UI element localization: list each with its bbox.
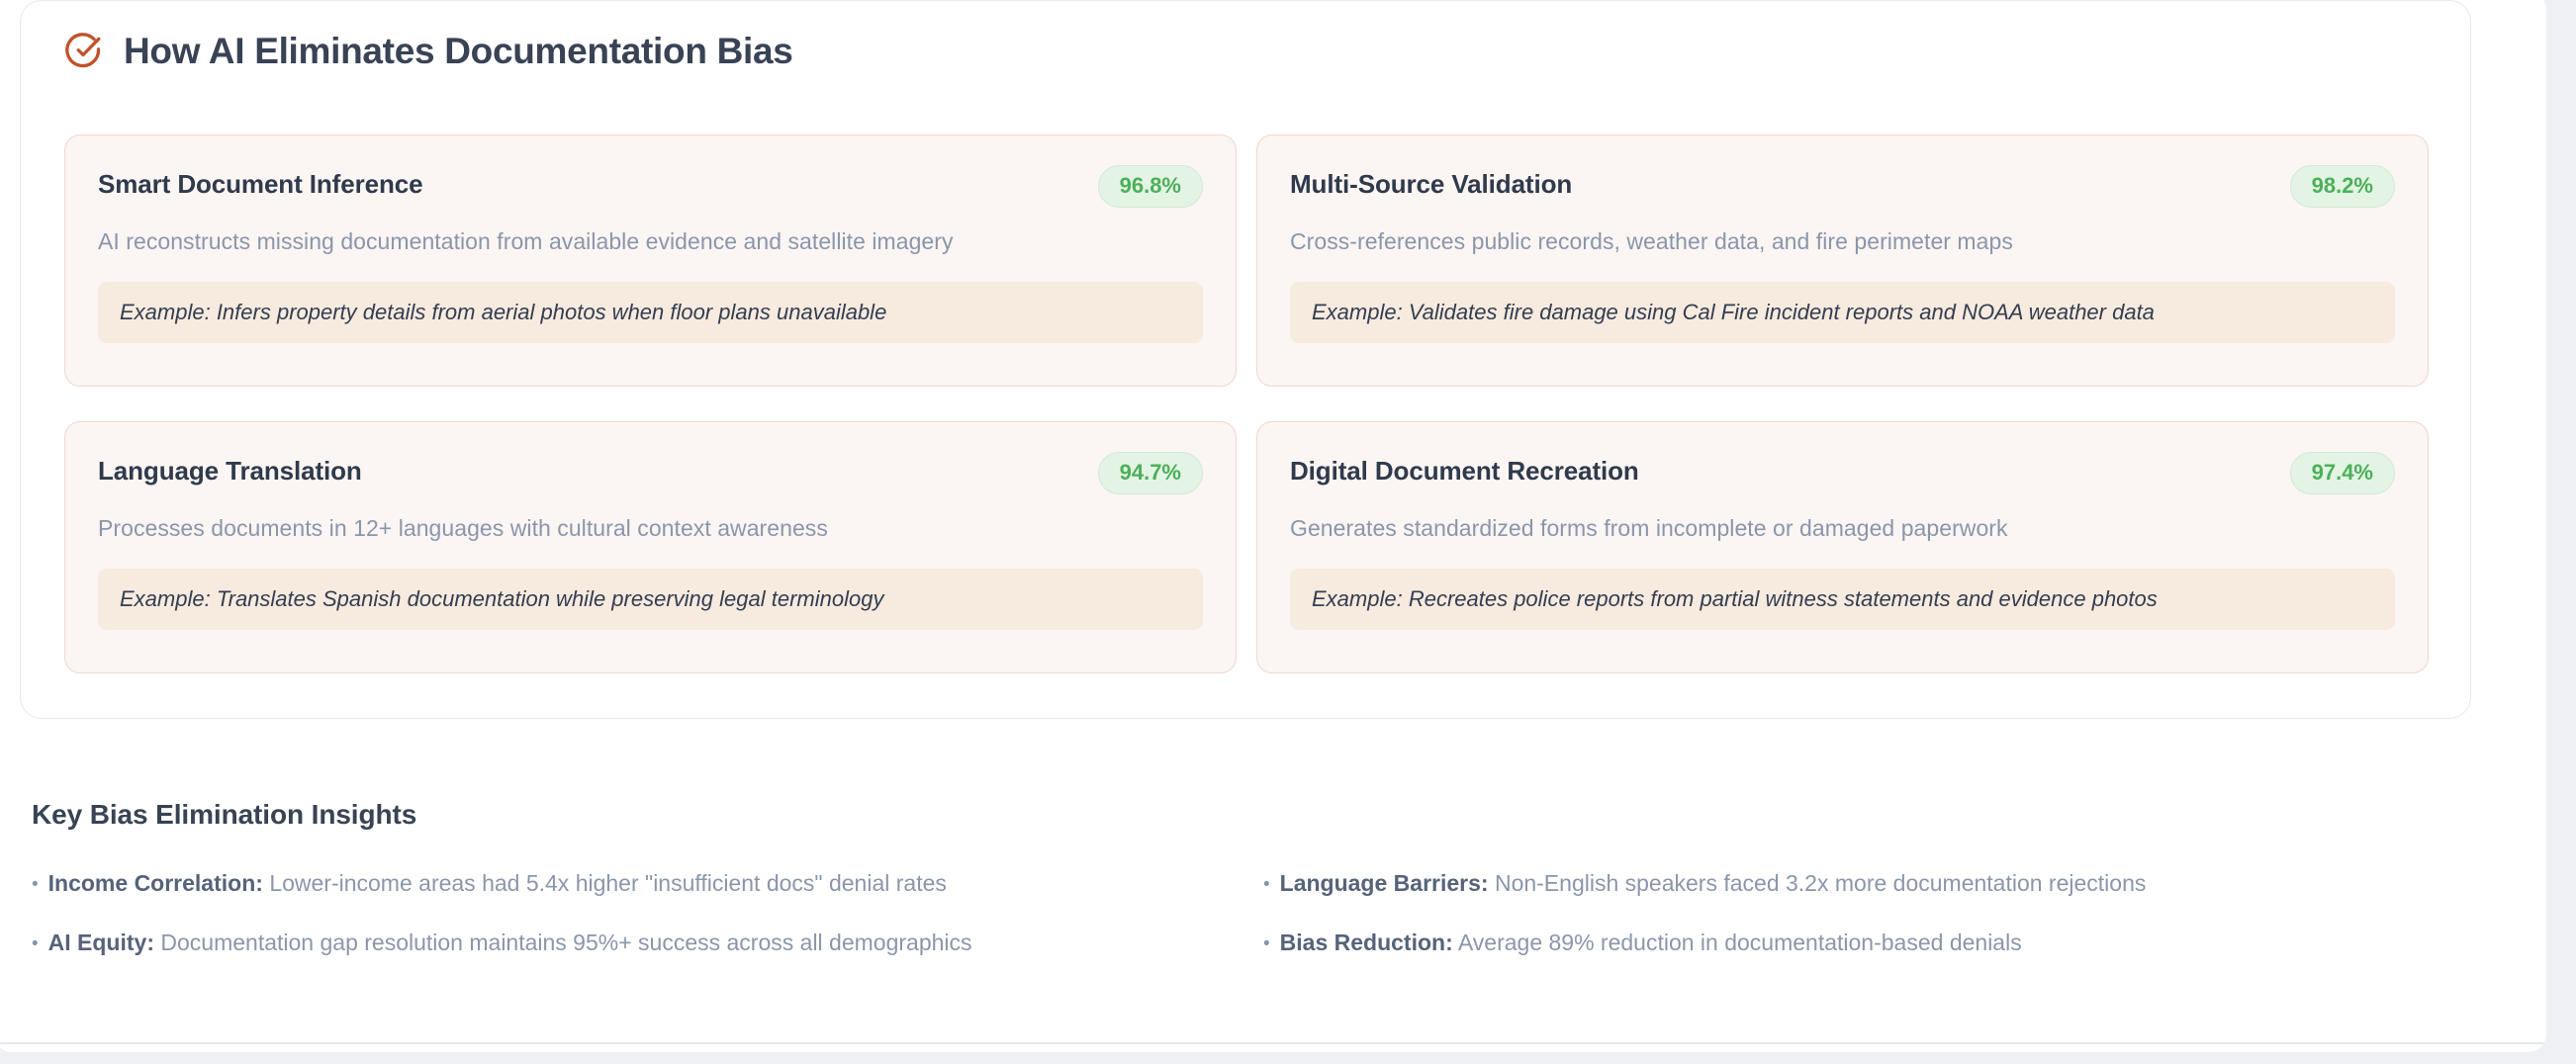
feature-card-multi-source-validation[interactable]: Multi-Source Validation 98.2% Cross-refe… — [1256, 134, 2429, 387]
page-right-gutter — [2546, 0, 2576, 1064]
card-description: AI reconstructs missing documentation fr… — [98, 227, 1203, 256]
card-title: Language Translation — [98, 452, 362, 486]
insight-text: Language Barriers: Non-English speakers … — [1280, 862, 2147, 905]
insights-title: Key Bias Elimination Insights — [32, 801, 2485, 829]
insight-body: Average 89% reduction in documentation-b… — [1458, 930, 2022, 955]
bottom-divider — [0, 1042, 2546, 1044]
bullet-icon: • — [1263, 934, 1270, 953]
insight-label: Income Correlation: — [48, 870, 263, 896]
insights-grid: • Income Correlation: Lower-income areas… — [32, 862, 2485, 963]
card-description: Generates standardized forms from incomp… — [1290, 514, 2395, 543]
card-title: Smart Document Inference — [98, 165, 422, 199]
feature-card-smart-document-inference[interactable]: Smart Document Inference 96.8% AI recons… — [64, 134, 1237, 387]
circle-check-icon — [64, 33, 102, 70]
feature-card-digital-document-recreation[interactable]: Digital Document Recreation 97.4% Genera… — [1256, 421, 2429, 673]
card-example: Example: Infers property details from ae… — [98, 282, 1203, 344]
panel-header: How AI Eliminates Documentation Bias — [64, 31, 793, 70]
insight-item-bias-reduction: • Bias Reduction: Average 89% reduction … — [1263, 922, 2495, 964]
card-example: Example: Validates fire damage using Cal… — [1290, 282, 2395, 344]
insight-label: Language Barriers: — [1280, 870, 1489, 896]
insight-item-income-correlation: • Income Correlation: Lower-income areas… — [32, 862, 1263, 905]
insight-text: Bias Reduction: Average 89% reduction in… — [1280, 922, 2022, 964]
insight-body: Non-English speakers faced 3.2x more doc… — [1495, 870, 2146, 896]
insight-text: Income Correlation: Lower-income areas h… — [48, 862, 947, 905]
insight-body: Documentation gap resolution maintains 9… — [160, 930, 971, 955]
card-header: Language Translation 94.7% — [98, 452, 1203, 493]
feature-card-language-translation[interactable]: Language Translation 94.7% Processes doc… — [64, 421, 1237, 673]
accuracy-badge: 97.4% — [2290, 452, 2395, 494]
feature-card-grid: Smart Document Inference 96.8% AI recons… — [64, 134, 2429, 673]
page-content: How AI Eliminates Documentation Bias Sma… — [0, 0, 2540, 1052]
card-header: Digital Document Recreation 97.4% — [1290, 452, 2395, 493]
insight-label: AI Equity: — [48, 930, 154, 955]
insight-text: AI Equity: Documentation gap resolution … — [48, 922, 972, 964]
card-header: Smart Document Inference 96.8% — [98, 165, 1203, 207]
page-shell: How AI Eliminates Documentation Bias Sma… — [0, 0, 2546, 1052]
card-title: Digital Document Recreation — [1290, 452, 1639, 486]
accuracy-badge: 96.8% — [1098, 165, 1203, 208]
bullet-icon: • — [32, 875, 39, 894]
card-description: Processes documents in 12+ languages wit… — [98, 514, 1203, 543]
accuracy-badge: 98.2% — [2290, 165, 2395, 208]
documentation-bias-panel: How AI Eliminates Documentation Bias Sma… — [20, 0, 2471, 719]
insight-item-ai-equity: • AI Equity: Documentation gap resolutio… — [32, 922, 1263, 964]
insight-label: Bias Reduction: — [1280, 930, 1453, 955]
accuracy-badge: 94.7% — [1098, 452, 1203, 494]
insight-item-language-barriers: • Language Barriers: Non-English speaker… — [1263, 862, 2495, 905]
bullet-icon: • — [1263, 875, 1270, 894]
insight-body: Lower-income areas had 5.4x higher "insu… — [269, 870, 947, 896]
card-header: Multi-Source Validation 98.2% — [1290, 165, 2395, 207]
page-title: How AI Eliminates Documentation Bias — [124, 33, 793, 69]
bullet-icon: • — [32, 934, 39, 953]
card-title: Multi-Source Validation — [1290, 165, 1572, 199]
card-example: Example: Recreates police reports from p… — [1290, 569, 2395, 631]
card-example: Example: Translates Spanish documentatio… — [98, 569, 1203, 631]
card-description: Cross-references public records, weather… — [1290, 227, 2395, 256]
key-insights-section: Key Bias Elimination Insights • Income C… — [32, 801, 2485, 963]
